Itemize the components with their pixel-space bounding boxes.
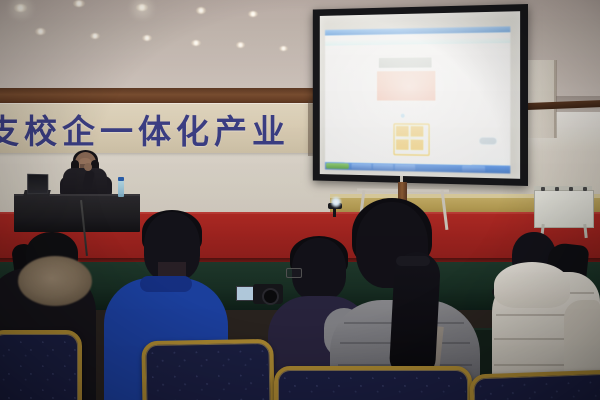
whiteboard-marker-icon: [569, 187, 573, 191]
speaker-hand-with-microphone: [84, 163, 92, 171]
water-bottle-cap: [118, 177, 124, 181]
presentation-photo-scene: 支校企一体化产业: [0, 0, 600, 400]
event-banner: 支校企一体化产业: [0, 103, 316, 153]
screen-frame: [313, 4, 528, 186]
whiteboard-marker-icon: [541, 187, 545, 191]
downlight-icon: [191, 40, 201, 46]
downlight-icon: [90, 33, 100, 39]
projector-lamp-glare: [330, 196, 342, 208]
puffer-hood: [494, 262, 570, 308]
water-bottle: [118, 180, 124, 197]
laptop-screen: [27, 174, 48, 195]
downlight-icon: [142, 35, 152, 41]
whiteboard-marker-icon: [583, 187, 587, 191]
projection-screen-assembly: [296, 4, 532, 196]
downlight-icon: [73, 0, 85, 7]
whiteboard-marker-icon: [555, 187, 559, 191]
wall-pillar-edge: [554, 60, 557, 138]
fur-hood-trim: [18, 256, 92, 306]
downlight-icon: [236, 42, 245, 48]
hair-tie: [396, 256, 430, 266]
downlight-icon: [248, 11, 258, 17]
podium-table: [14, 196, 140, 232]
screen-inner-glow: [320, 11, 520, 179]
eyeglasses-icon: [286, 268, 302, 278]
downlight-icon: [35, 28, 46, 35]
downlight-icon: [196, 7, 206, 14]
banquet-chair: [469, 369, 600, 400]
attendee-ponytail: [389, 251, 441, 377]
downlight-icon: [279, 46, 288, 51]
projector-stem: [333, 207, 336, 217]
camera-lens-icon: [262, 288, 279, 305]
banquet-chair: [274, 366, 472, 400]
whiteboard: [534, 190, 594, 228]
banner-text: 支校企一体化产业: [0, 105, 290, 153]
banquet-chair: [0, 330, 82, 400]
banquet-chair: [141, 339, 274, 400]
attendee-jacket-collar: [140, 276, 192, 292]
